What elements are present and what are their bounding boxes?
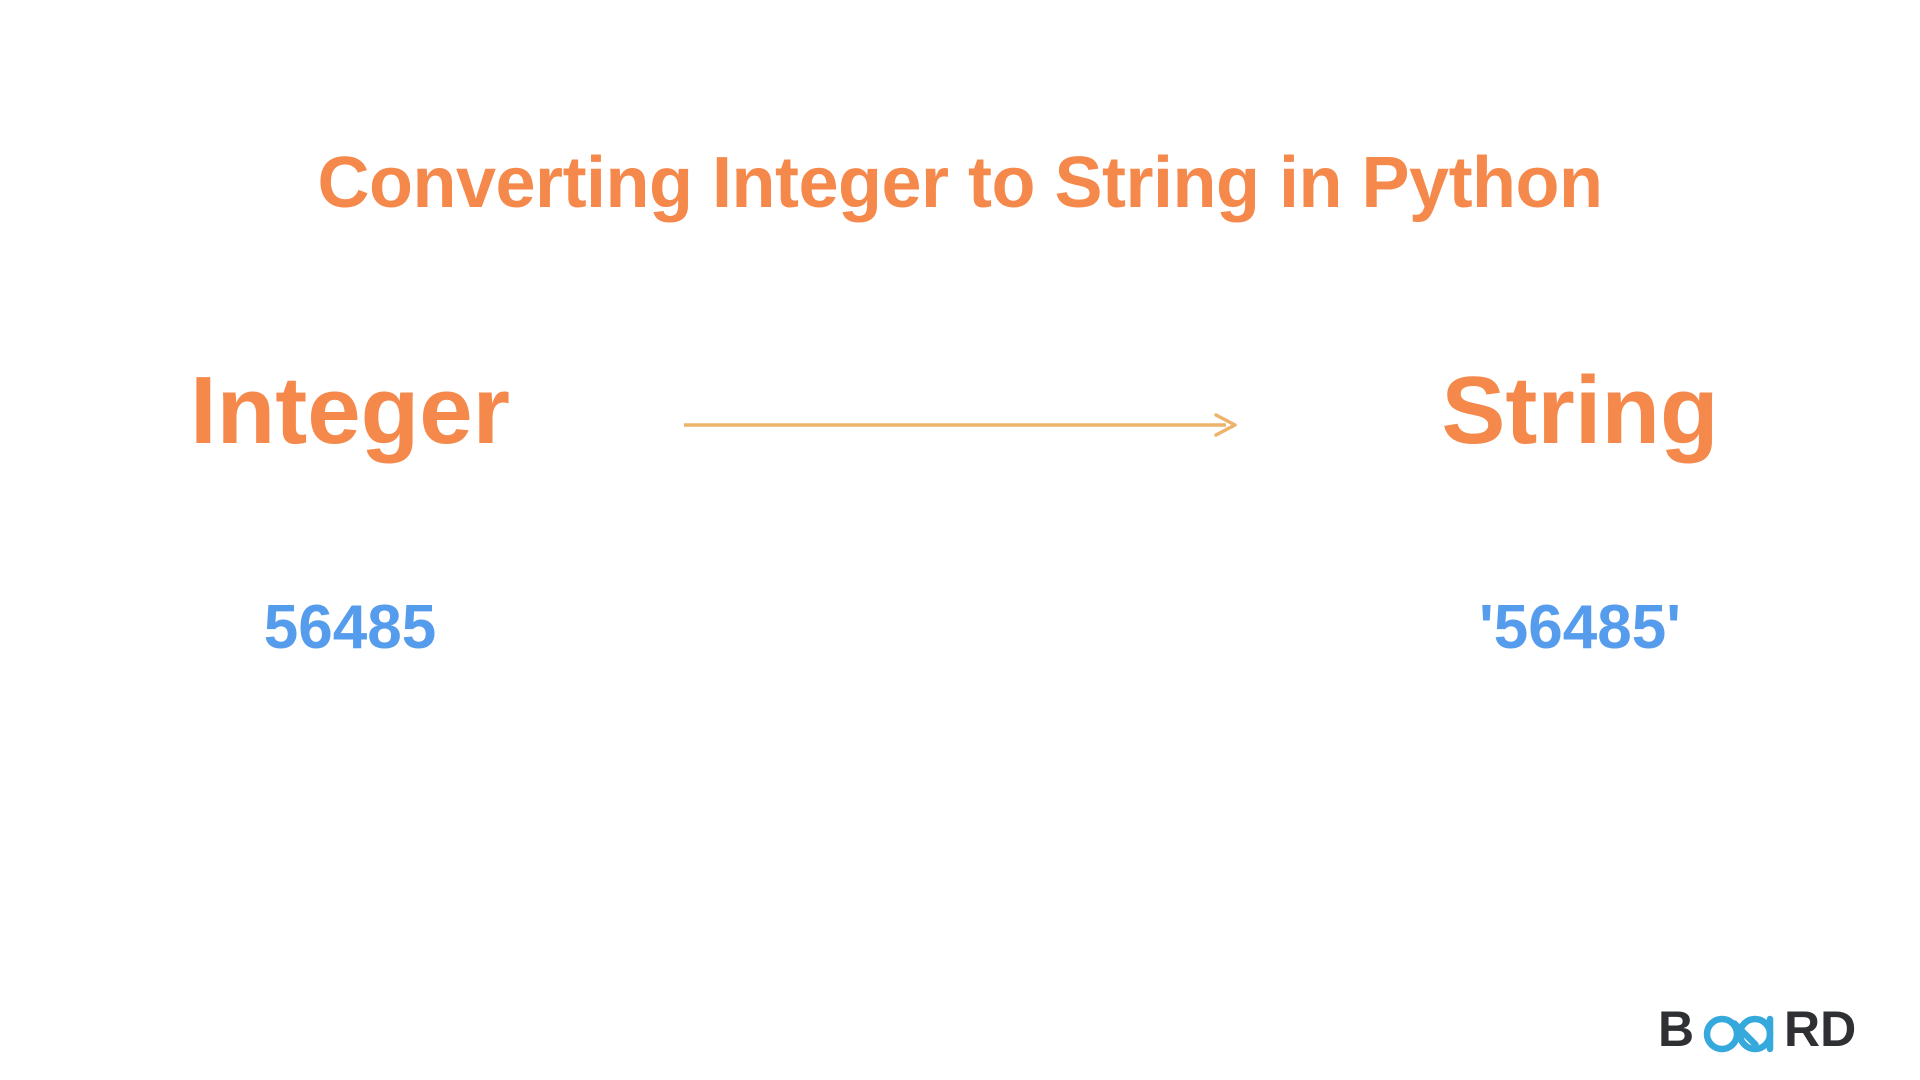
target-type-label: String <box>1330 346 1830 476</box>
right-arrow-icon <box>684 412 1238 438</box>
target-value: '56485' <box>1380 588 1780 668</box>
source-value: 56485 <box>150 588 550 668</box>
svg-text:B: B <box>1658 1002 1694 1057</box>
values-row: 56485 '56485' <box>0 588 1920 668</box>
svg-text:RD: RD <box>1784 1002 1856 1057</box>
board-logo: B RD <box>1658 1002 1872 1058</box>
page-title: Converting Integer to String in Python <box>0 144 1920 223</box>
slide-canvas: Converting Integer to String in Python I… <box>0 0 1920 1080</box>
conversion-row: Integer String <box>0 346 1920 476</box>
source-type-label: Integer <box>100 346 600 476</box>
